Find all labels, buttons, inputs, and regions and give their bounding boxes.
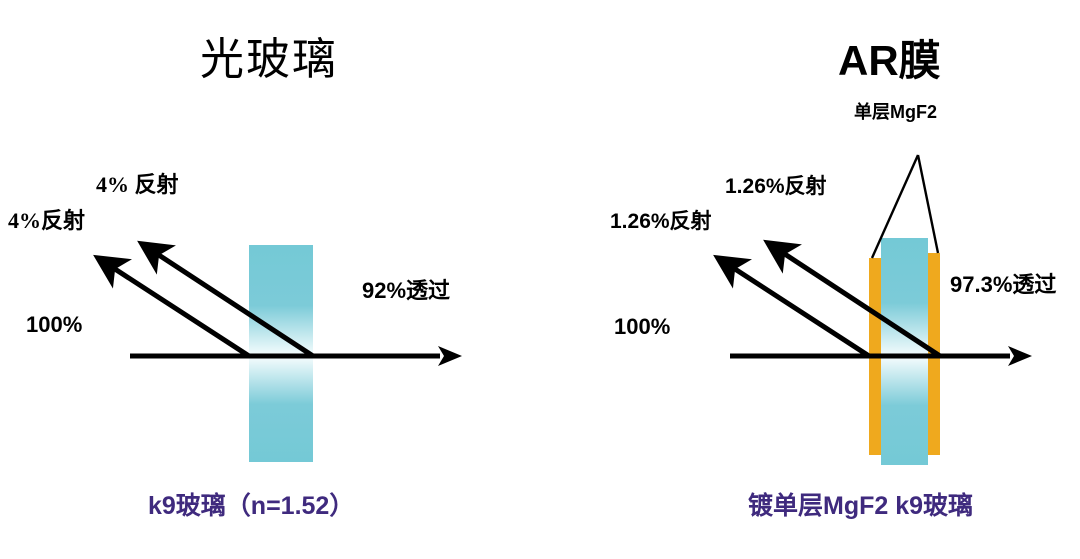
transmitted-ray-arrowhead (1008, 346, 1032, 366)
glass-core-upper (881, 238, 928, 356)
glass-slab-upper (249, 245, 313, 355)
page-title-right: AR膜 (838, 40, 941, 82)
label-transmit-right: 97.3%透过 (950, 274, 1056, 296)
label-incident-left: 100% (26, 314, 82, 336)
label-reflect-lower-right: 1.26%反射 (610, 211, 712, 232)
diagram-canvas: 光玻璃 4% 反射 4%反射 100% 92%透过 k9玻璃（n=1.52） (0, 0, 1080, 559)
glass-core-lower (881, 357, 928, 465)
caption-left: k9玻璃（n=1.52） (148, 494, 354, 519)
caption-right: 镀单层MgF2 k9玻璃 (748, 494, 973, 519)
reflection-ray-front (98, 258, 249, 356)
label-reflect-upper-left: 4% 反射 (96, 174, 179, 196)
transmitted-ray-arrowhead (438, 346, 462, 366)
panel-plain-glass: 光玻璃 4% 反射 4%反射 100% 92%透过 k9玻璃（n=1.52） (0, 0, 540, 559)
label-reflect-lower-left: 4%反射 (8, 210, 85, 232)
panel-ar-coated-glass: AR膜 单层MgF2 1.26%反射 1.26%反射 100% 97.3%透过 … (540, 0, 1080, 559)
label-reflect-upper-right: 1.26%反射 (725, 176, 827, 197)
reflection-ray-front (718, 258, 869, 356)
label-incident-right: 100% (614, 316, 670, 338)
glass-slab-lower (249, 357, 313, 462)
label-mgf2-callout: 单层MgF2 (854, 103, 937, 121)
label-transmit-left: 92%透过 (362, 280, 450, 302)
page-title-left: 光玻璃 (200, 38, 338, 82)
